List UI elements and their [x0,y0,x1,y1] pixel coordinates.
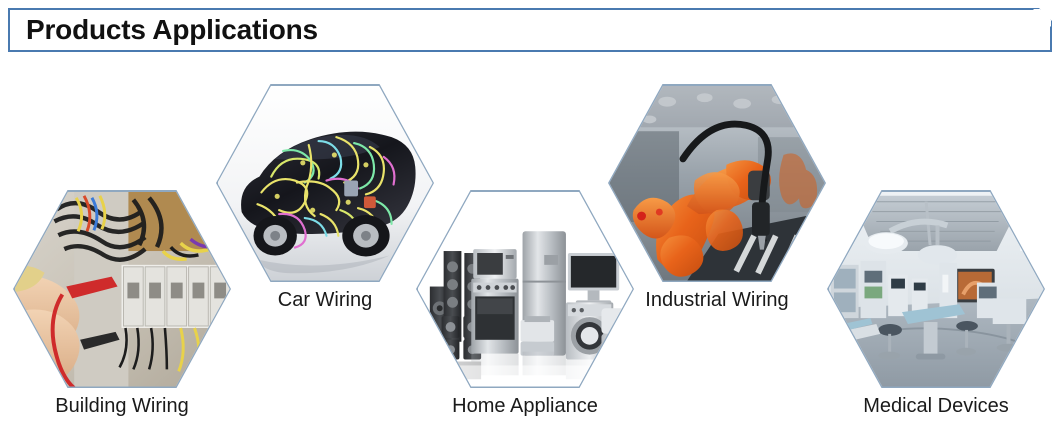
industrial-wiring-illustration [610,86,825,281]
page-title: Products Applications [26,14,318,46]
hexagon-image-home-appliance [418,192,633,387]
medical-devices-illustration [829,192,1044,387]
application-card-car-wiring[interactable] [216,84,434,282]
page-title-box: Products Applications [8,8,1052,52]
application-label-home-appliance: Home Appliance [416,395,634,418]
application-card-industrial-wiring[interactable] [608,84,826,282]
hexagon-image-building-wiring [15,192,230,387]
building-wiring-illustration [15,192,230,387]
application-label-industrial-wiring: Industrial Wiring [608,289,826,312]
hexagon-image-car-wiring [218,86,433,281]
application-card-medical-devices[interactable] [827,190,1045,388]
application-card-home-appliance[interactable] [416,190,634,388]
application-label-medical-devices: Medical Devices [827,395,1045,418]
home-appliance-illustration [418,192,633,387]
car-wiring-illustration [218,86,433,281]
hexagon-image-medical-devices [829,192,1044,387]
application-label-building-wiring: Building Wiring [13,395,231,418]
application-card-building-wiring[interactable] [13,190,231,388]
hexagon-image-industrial-wiring [610,86,825,281]
application-label-car-wiring: Car Wiring [216,289,434,312]
